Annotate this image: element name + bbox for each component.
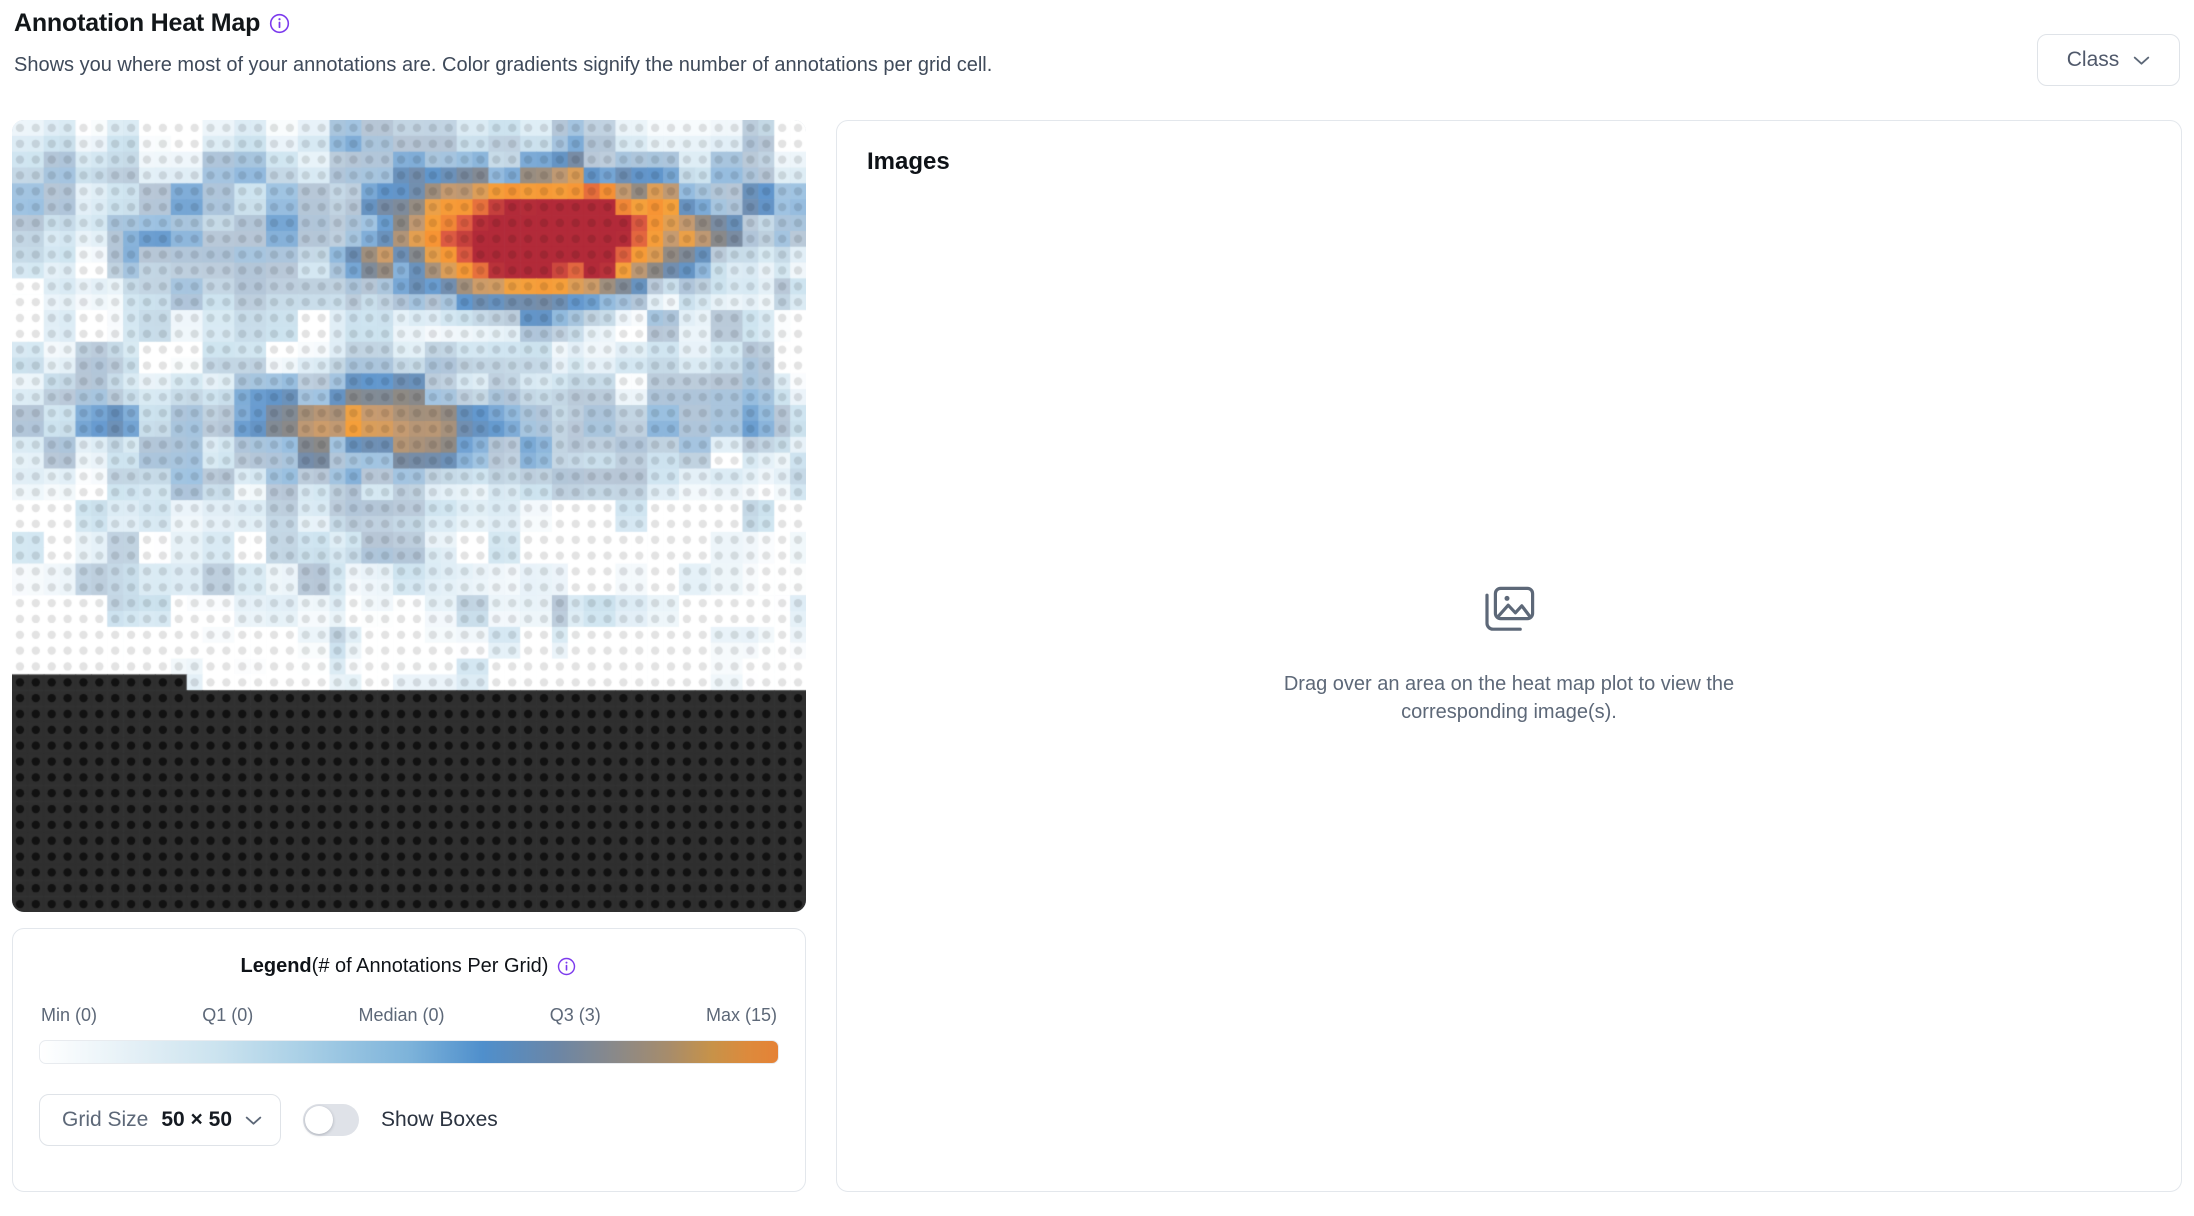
legend-tick-q1: Q1 (0) xyxy=(202,1005,253,1026)
grid-size-value: 50 × 50 xyxy=(161,1108,232,1132)
image-placeholder-icon xyxy=(1483,586,1535,634)
legend-gradient-bar xyxy=(39,1040,779,1064)
info-circle-icon[interactable] xyxy=(556,956,577,977)
images-panel: Images Drag over an area on the heat map… xyxy=(836,120,2182,1192)
show-boxes-toggle[interactable] xyxy=(303,1104,359,1136)
legend-tick-max: Max (15) xyxy=(706,1005,777,1026)
chevron-down-icon xyxy=(2133,55,2150,66)
images-empty-text: Drag over an area on the heat map plot t… xyxy=(1239,670,1779,726)
legend-tick-labels: Min (0) Q1 (0) Median (0) Q3 (3) Max (15… xyxy=(39,1005,779,1026)
info-circle-icon[interactable] xyxy=(269,13,290,34)
images-panel-title: Images xyxy=(867,148,950,176)
chevron-down-icon xyxy=(245,1115,262,1126)
show-boxes-label: Show Boxes xyxy=(381,1108,498,1132)
grid-size-label: Grid Size xyxy=(62,1108,148,1132)
legend-title: Legend(# of Annotations Per Grid) xyxy=(39,955,779,978)
page-title: Annotation Heat Map xyxy=(14,10,260,38)
heatmap-plot[interactable] xyxy=(12,120,806,912)
annotation-heatmap-page: Annotation Heat Map Shows you where most… xyxy=(0,0,2194,1216)
images-empty-state: Drag over an area on the heat map plot t… xyxy=(837,586,2181,726)
legend-tick-median: Median (0) xyxy=(358,1005,444,1026)
class-filter-dropdown[interactable]: Class xyxy=(2037,34,2180,86)
title-row: Annotation Heat Map xyxy=(14,10,2180,38)
legend-tick-min: Min (0) xyxy=(41,1005,97,1026)
class-filter-label: Class xyxy=(2067,48,2120,72)
legend-card: Legend(# of Annotations Per Grid) Min (0… xyxy=(12,928,806,1192)
toggle-knob xyxy=(305,1106,333,1134)
grid-size-select[interactable]: Grid Size 50 × 50 xyxy=(39,1094,281,1146)
legend-tick-q3: Q3 (3) xyxy=(550,1005,601,1026)
heatmap-canvas[interactable] xyxy=(12,120,806,912)
page-header: Annotation Heat Map Shows you where most… xyxy=(14,10,2180,78)
legend-title-strong: Legend xyxy=(241,955,312,977)
page-subtitle: Shows you where most of your annotations… xyxy=(14,53,2180,78)
legend-title-rest: (# of Annotations Per Grid) xyxy=(312,955,549,977)
legend-controls: Grid Size 50 × 50 Show Boxes xyxy=(39,1094,779,1146)
